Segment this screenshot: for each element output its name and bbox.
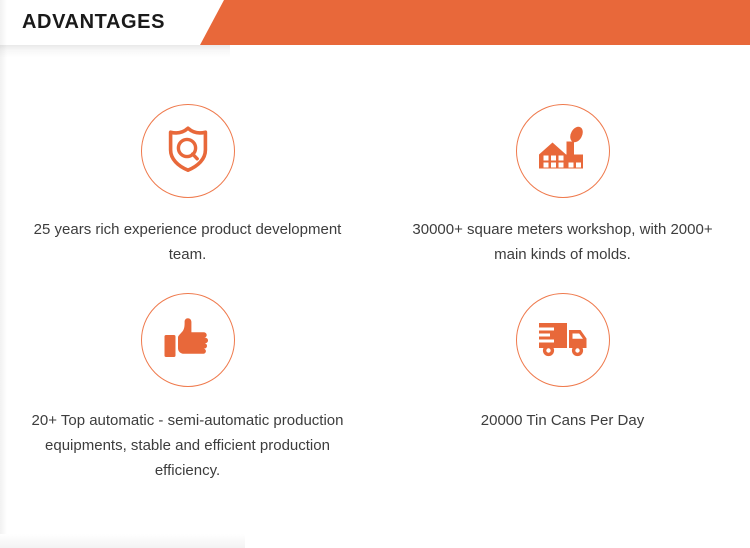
bottom-edge-shading bbox=[0, 534, 245, 548]
section-header-banner: ADVANTAGES bbox=[0, 0, 750, 45]
advantage-icon-circle-4 bbox=[516, 293, 610, 387]
advantage-card-4: 20000 Tin Cans Per Day bbox=[375, 253, 750, 448]
advantage-card-1: 25 years rich experience product develop… bbox=[0, 58, 375, 253]
advantage-card-3: 20+ Top automatic - semi-automatic produ… bbox=[0, 253, 375, 448]
advantage-icon-circle-1 bbox=[141, 104, 235, 198]
banner-shadow-mask bbox=[230, 45, 750, 58]
page-title: ADVANTAGES bbox=[22, 0, 165, 45]
banner-drop-shadow bbox=[0, 45, 750, 58]
advantage-icon-circle-2 bbox=[516, 104, 610, 198]
shield-quality-icon bbox=[163, 124, 213, 179]
advantage-text-3: 20+ Top automatic - semi-automatic produ… bbox=[18, 408, 358, 483]
thumbs-up-icon bbox=[162, 313, 214, 368]
advantage-text-4: 20000 Tin Cans Per Day bbox=[398, 408, 728, 433]
advantages-grid: 25 years rich experience product develop… bbox=[0, 58, 750, 448]
advantages-page: ADVANTAGES 25 years rich experience prod… bbox=[0, 0, 750, 548]
advantage-card-2: 30000+ square meters workshop, with 2000… bbox=[375, 58, 750, 253]
advantage-icon-circle-3 bbox=[141, 293, 235, 387]
factory-icon bbox=[536, 124, 590, 179]
delivery-truck-icon bbox=[536, 317, 590, 364]
